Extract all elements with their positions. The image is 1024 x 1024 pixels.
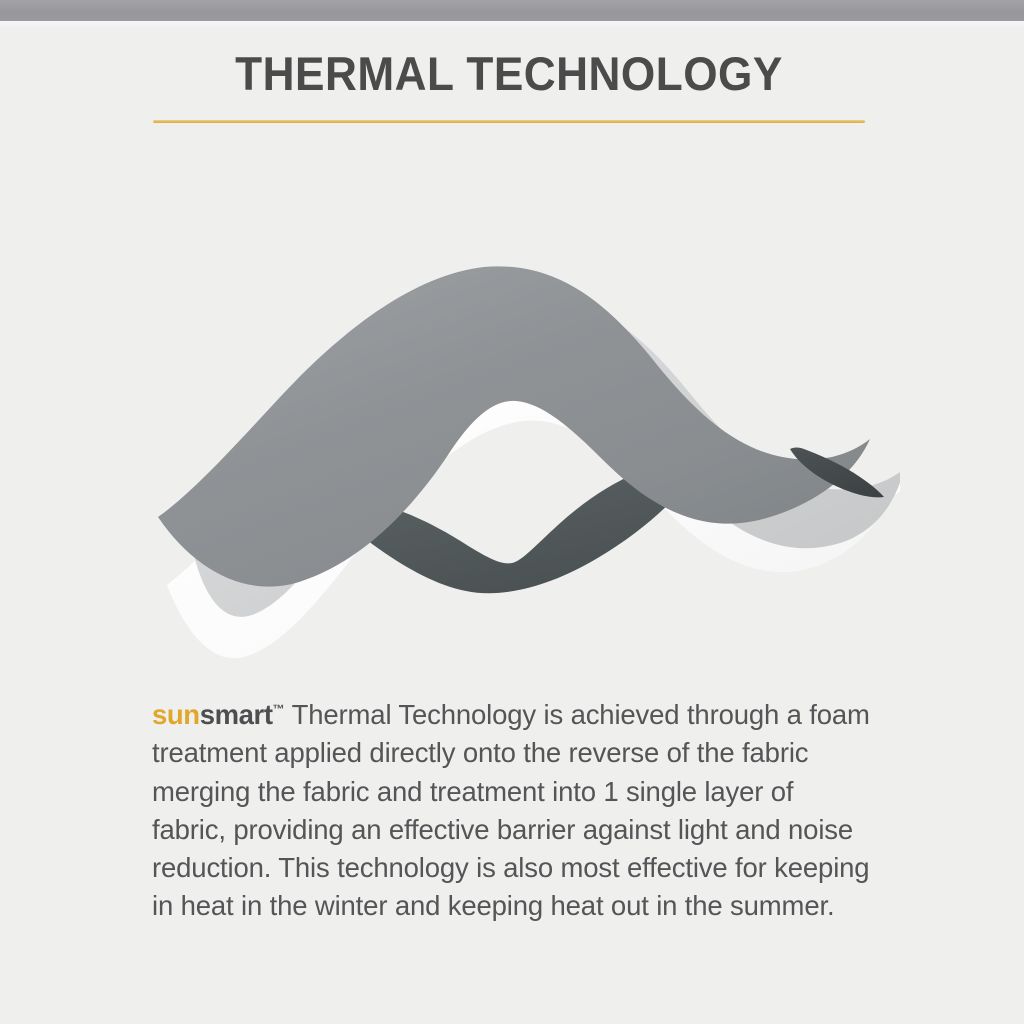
- page-stage: THERMAL TECHNOLOGY: [0, 27, 1024, 1024]
- brand-smart-text: smart: [200, 699, 273, 730]
- brand-sun-text: sun: [152, 699, 200, 730]
- trademark-symbol: ™: [273, 702, 285, 716]
- page-title: THERMAL TECHNOLOGY: [174, 48, 843, 100]
- description-paragraph: sunsmart™ Thermal Technology is achieved…: [152, 690, 874, 926]
- layered-fabric-graphic: [140, 187, 900, 677]
- description-body-text: Thermal Technology is achieved through a…: [152, 699, 870, 921]
- window-chrome-bar: [0, 0, 1024, 21]
- description-block: sunsmart™ Thermal Technology is achieved…: [152, 690, 874, 926]
- title-divider: [153, 120, 865, 123]
- page-header: THERMAL TECHNOLOGY: [153, 48, 865, 100]
- layered-fabric-illustration: [140, 187, 900, 677]
